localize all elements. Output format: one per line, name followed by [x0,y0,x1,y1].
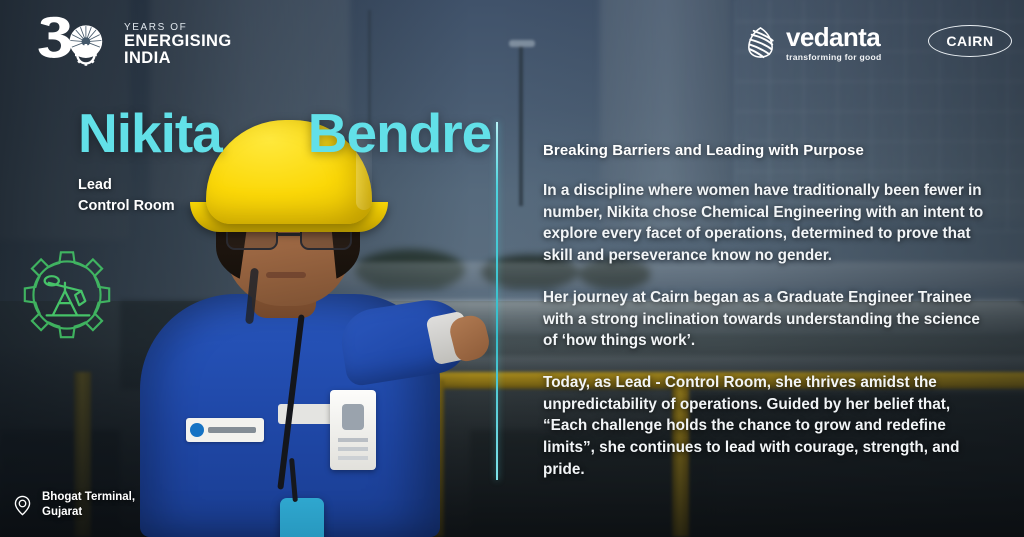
anniversary-line1: ENERGISING [124,33,232,50]
story-block: Breaking Barriers and Leading with Purpo… [543,142,991,481]
vedanta-wordmark: vedanta [786,24,881,50]
story-paragraph-1: In a discipline where women have traditi… [543,180,991,267]
id-badge [330,390,376,470]
profile-full-name: NikitaBendre [78,106,491,161]
story-headline: Breaking Barriers and Leading with Purpo… [543,142,991,159]
profile-first-name: Nikita [78,102,222,164]
location-pin-icon [12,495,33,516]
vedanta-tagline: transforming for good [786,53,881,62]
vedanta-mark-icon [744,26,777,59]
gear-oil-pumpjack-icon [6,234,128,356]
profile-role-line1: Lead [78,175,491,196]
eyeglass-bridge [278,233,300,236]
location-line2: Gujarat [42,505,135,521]
location-line1: Bhogat Terminal, [42,490,135,506]
location-text: Bhogat Terminal, Gujarat [42,490,135,521]
anniversary-mark-icon [36,16,114,72]
profile-last-name: Bendre [308,102,492,164]
poster-canvas: YEARS OF ENERGISING INDIA vedanta transf… [0,0,1024,537]
vedanta-logo-text: vedanta transforming for good [786,24,881,62]
location-badge: Bhogat Terminal, Gujarat [12,490,135,521]
mouth [266,272,306,278]
vertical-accent-divider [496,122,498,480]
handheld-radio [280,498,324,537]
anniversary-logo: YEARS OF ENERGISING INDIA [36,16,232,72]
story-paragraph-2: Her journey at Cairn began as a Graduate… [543,287,991,352]
profile-name-block: NikitaBendre Lead Control Room [78,106,491,216]
coverall-chest-logo [186,418,264,442]
anniversary-logo-text: YEARS OF ENERGISING INDIA [124,21,232,67]
vedanta-logo: vedanta transforming for good [744,24,881,62]
profile-role: Lead Control Room [78,175,491,216]
cairn-wordmark: CAIRN [946,33,993,49]
profile-role-line2: Control Room [78,196,491,217]
cairn-logo: CAIRN [928,25,1012,57]
story-paragraph-3: Today, as Lead - Control Room, she thriv… [543,372,991,481]
anniversary-line2: INDIA [124,50,232,67]
